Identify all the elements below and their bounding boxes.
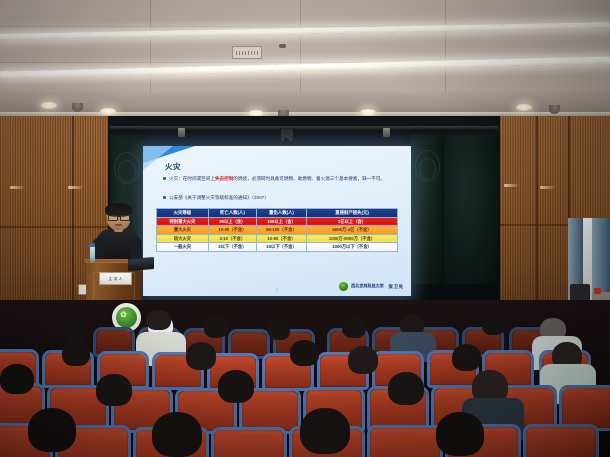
cone-downlight <box>549 105 560 114</box>
bullet-marker <box>163 196 166 199</box>
ceiling <box>0 0 610 96</box>
wall-light-reflection <box>540 186 554 189</box>
cell-deaths: 10-30（不含） <box>208 226 256 235</box>
cell-deaths: 3以下（不含） <box>208 243 256 252</box>
lecture-hall-photo: 火灾 火灾：在时间或空间上失去控制的燃烧，必须同时具备可燃物、助燃物、着火源三个… <box>0 0 610 457</box>
col-header-loss: 直接财产损失(元) <box>307 209 398 218</box>
cell-injuries: 10-50（不含） <box>256 234 306 243</box>
slide-bullet-1: 火灾：在时间或空间上失去控制的燃烧，必须同时具备可燃物、助燃物、着火源三个基本要… <box>163 175 401 183</box>
window-nook <box>568 218 610 312</box>
projected-slide: 火灾 火灾：在时间或空间上失去控制的燃烧，必须同时具备可燃物、助燃物、着火源三个… <box>143 146 411 296</box>
acoustic-panel-right <box>411 134 443 284</box>
table-row: 较大火灾 3-10（不含） 10-50（不含） 1000万-5000万（不含） <box>157 234 398 243</box>
cell-deaths: 3-10（不含） <box>208 234 256 243</box>
audience-head <box>186 342 216 370</box>
cell-loss: 1亿以上（含） <box>307 217 398 226</box>
col-header-deaths: 死亡人数(人) <box>208 209 256 218</box>
ceiling-sensor <box>279 44 286 48</box>
audience-head <box>28 408 76 452</box>
downlight <box>360 109 376 116</box>
slide-bullet-2: 公安部《关于调整火灾等级标准的通知》（2007） <box>163 194 401 202</box>
rail-mount <box>383 128 390 137</box>
audience-head <box>0 364 34 394</box>
slide-title: 火灾 <box>165 161 181 172</box>
audience-head <box>62 340 90 366</box>
ceiling-light-strip-2 <box>0 57 610 79</box>
downlight <box>41 102 57 109</box>
bullet-marker <box>163 177 166 180</box>
laptop-screen <box>129 258 153 268</box>
cell-loss: 1000万-5000万（不含） <box>307 234 398 243</box>
screen-mounting-rail <box>110 126 498 130</box>
speaker-mouth <box>115 224 122 226</box>
bullet-2-text: 公安部《关于调整火灾等级标准的通知》（2007） <box>169 195 269 200</box>
col-header-level: 火灾等级 <box>157 209 209 218</box>
university-name-en: NORTHWEST A&F UNIVERSITY <box>351 287 384 289</box>
glasses-icon <box>108 215 118 221</box>
ceiling-light-strip-1 <box>0 22 610 40</box>
bottle-cap <box>90 243 95 247</box>
wall-light-reflection <box>10 186 24 189</box>
wall-light-reflection <box>504 184 518 187</box>
nameplate-text: 主 讲 人 <box>108 276 122 281</box>
audience-head <box>268 320 290 340</box>
rail-mount <box>178 128 185 137</box>
cell-level: 一般火灾 <box>157 243 209 252</box>
cell-injuries: 10以下（不含） <box>256 243 306 252</box>
table-row: 一般火灾 3以下（不含） 10以下（不含） 1000万以下（不含） <box>157 243 398 252</box>
podium-laptop[interactable] <box>128 257 154 271</box>
emblem-glyph: ✿ <box>113 304 134 325</box>
table-header-row: 火灾等级 死亡人数(人) 重伤人数(人) 直接财产损失(元) <box>157 209 398 218</box>
slide-footer-logo: 西北农林科技大学 NORTHWEST A&F UNIVERSITY 保卫处 <box>338 281 404 292</box>
podium-nameplate: 主 讲 人 <box>99 272 132 285</box>
bullet-1-post: 的燃烧，必须同时具备可燃物、助燃物、着火源三个基本要素，缺一不可。 <box>233 176 385 181</box>
downlight <box>100 108 116 115</box>
downlight <box>516 104 532 111</box>
cell-deaths: 30以上（含） <box>208 217 256 226</box>
audience-head <box>452 344 481 371</box>
audience-head <box>482 314 505 335</box>
audience-head <box>436 412 484 456</box>
audience-head <box>342 316 366 338</box>
col-header-injuries: 重伤人数(人) <box>256 209 306 218</box>
audience-head <box>204 316 228 338</box>
audience-head <box>152 412 202 457</box>
red-object <box>594 288 601 294</box>
cell-level: 特别重大火灾 <box>157 217 209 226</box>
audience-head <box>66 320 88 340</box>
seat[interactable] <box>214 430 284 457</box>
glasses-icon <box>120 215 130 221</box>
cell-level: 重大火灾 <box>157 226 209 235</box>
seat[interactable] <box>526 427 596 457</box>
acoustic-panel-far-right <box>444 134 498 284</box>
cone-downlight <box>72 103 83 112</box>
audience-head <box>348 346 378 374</box>
fire-grade-table: 火灾等级 死亡人数(人) 重伤人数(人) 直接财产损失(元) 特别重大火灾 30… <box>156 208 398 252</box>
seat[interactable] <box>370 428 440 457</box>
camera-icon <box>281 129 293 141</box>
audience-head <box>96 374 132 406</box>
audience-head <box>146 310 171 330</box>
bullet-1-highlight: 失去控制 <box>215 176 233 181</box>
cell-loss: 5000万-1亿（不含） <box>307 226 398 235</box>
audience-head <box>300 408 350 454</box>
air-vent-icon <box>232 46 262 59</box>
wall-light-reflection <box>68 186 82 189</box>
cell-loss: 1000万以下（不含） <box>307 243 398 252</box>
table-row: 特别重大火灾 30以上（含） 100以上（含） 1亿以上（含） <box>157 217 398 226</box>
cell-level: 较大火灾 <box>157 234 209 243</box>
cell-injuries: 50-100（不含） <box>256 226 306 235</box>
audience-head <box>290 340 319 366</box>
audience-head <box>388 372 424 405</box>
bullet-1-pre: 火灾：在时间或空间上 <box>169 176 215 181</box>
cell-injuries: 100以上（含） <box>256 217 306 226</box>
slide-page-number: 2 <box>276 287 278 292</box>
department-label: 保卫处 <box>388 284 404 290</box>
university-emblem-icon <box>338 281 349 292</box>
water-bottle <box>90 246 95 262</box>
audience-area: ✿ <box>0 300 610 457</box>
table-row: 重大火灾 10-30（不含） 50-100（不含） 5000万-1亿（不含） <box>157 226 398 235</box>
audience-head <box>218 370 254 403</box>
